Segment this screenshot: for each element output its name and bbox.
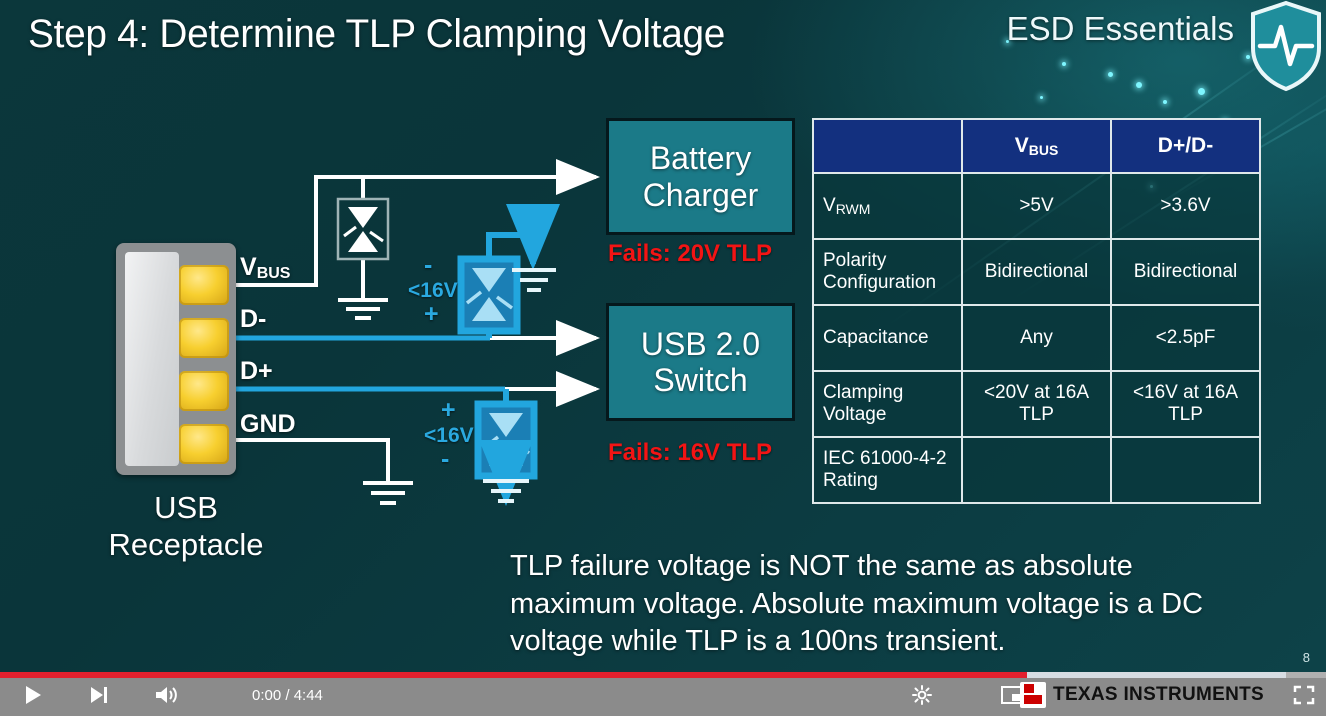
time-display: 0:00 / 4:44 xyxy=(252,687,323,704)
video-player-controls: 0:00 / 4:44 TEXAS INSTRUMENTS xyxy=(0,672,1326,716)
play-button[interactable] xyxy=(22,684,44,706)
table-cell-iec-vbus xyxy=(962,437,1111,503)
table-header-row: VBUS D+/D- xyxy=(813,119,1260,173)
usb-caption-line2: Receptacle xyxy=(96,527,276,564)
fullscreen-icon xyxy=(1292,684,1316,706)
tvs-dminus-top-sign: - xyxy=(424,251,432,280)
table-header-data: D+/D- xyxy=(1111,119,1260,173)
tvs-dminus-bottom-sign: + xyxy=(424,300,439,329)
usb-pin-dplus xyxy=(179,371,229,411)
progress-bar-track[interactable] xyxy=(0,672,1326,678)
settings-button[interactable] xyxy=(910,684,934,706)
spec-table: VBUS D+/D- VRWM >5V >3.6V Polarity Confi… xyxy=(812,118,1261,504)
sparkle-icon xyxy=(1108,72,1113,77)
table-rowlabel-iec: IEC 61000-4-2 Rating xyxy=(813,437,962,503)
volume-icon xyxy=(154,684,178,706)
volume-button[interactable] xyxy=(154,684,178,706)
sparkle-icon xyxy=(1136,82,1142,88)
table-row: Polarity Configuration Bidirectional Bid… xyxy=(813,239,1260,305)
table-row: Capacitance Any <2.5pF xyxy=(813,305,1260,371)
table-row: VRWM >5V >3.6V xyxy=(813,173,1260,239)
table-rowlabel-capacitance: Capacitance xyxy=(813,305,962,371)
pin-label-dminus: D- xyxy=(240,305,266,334)
table-cell-polarity-data: Bidirectional xyxy=(1111,239,1260,305)
play-icon xyxy=(22,684,44,706)
pin-label-dplus: D+ xyxy=(240,357,273,386)
slide-canvas: Step 4: Determine TLP Clamping Voltage E… xyxy=(0,0,1326,672)
sparkle-icon xyxy=(1198,88,1205,95)
block-usb-switch: USB 2.0 Switch xyxy=(606,303,795,421)
tvs-dplus-bottom-sign: - xyxy=(441,445,449,474)
block-switch-line1: USB 2.0 xyxy=(641,326,760,362)
settings-icon xyxy=(910,684,934,706)
ti-brand-label: TEXAS INSTRUMENTS xyxy=(1053,684,1264,706)
usb-caption-line1: USB xyxy=(96,490,276,527)
ti-mark-icon xyxy=(1020,682,1046,708)
table-cell-iec-data xyxy=(1111,437,1260,503)
pin-label-vbus: VBUS xyxy=(240,253,290,282)
table-corner-cell xyxy=(813,119,962,173)
table-row: IEC 61000-4-2 Rating xyxy=(813,437,1260,503)
block-charger-line2: Charger xyxy=(643,177,759,213)
sparkle-icon xyxy=(1062,62,1066,66)
table-cell-clamping-data: <16V at 16A TLP xyxy=(1111,371,1260,437)
pin-label-gnd: GND xyxy=(240,410,296,439)
brand-label: ESD Essentials xyxy=(1007,10,1234,48)
usb-pin-dminus xyxy=(179,318,229,358)
table-row: Clamping Voltage <20V at 16A TLP <16V at… xyxy=(813,371,1260,437)
table-rowlabel-polarity: Polarity Configuration xyxy=(813,239,962,305)
page-number: 8 xyxy=(1303,650,1310,665)
usb-receptacle xyxy=(116,243,236,475)
shield-pulse-icon xyxy=(1248,0,1324,92)
usb-receptacle-body xyxy=(125,252,179,466)
usb-pin-vbus xyxy=(179,265,229,305)
fullscreen-button[interactable] xyxy=(1292,684,1316,706)
tvs-dplus-top-sign: + xyxy=(441,396,456,425)
table-rowlabel-clamping: Clamping Voltage xyxy=(813,371,962,437)
table-cell-vrwm-data: >3.6V xyxy=(1111,173,1260,239)
table-cell-capacitance-vbus: Any xyxy=(962,305,1111,371)
table-cell-clamping-vbus: <20V at 16A TLP xyxy=(962,371,1111,437)
video-player-stage: Step 4: Determine TLP Clamping Voltage E… xyxy=(0,0,1326,716)
block-switch-line2: Switch xyxy=(653,362,747,398)
progress-bar-fill xyxy=(0,672,1027,678)
sparkle-icon xyxy=(1163,100,1167,104)
usb-receptacle-caption: USB Receptacle xyxy=(96,490,276,563)
sparkle-icon xyxy=(1040,96,1043,99)
texas-instruments-logo: TEXAS INSTRUMENTS xyxy=(1020,682,1264,708)
table-cell-polarity-vbus: Bidirectional xyxy=(962,239,1111,305)
fail-note-switch: Fails: 16V TLP xyxy=(608,439,772,467)
table-cell-capacitance-data: <2.5pF xyxy=(1111,305,1260,371)
table-rowlabel-vrwm: VRWM xyxy=(813,173,962,239)
table-header-vbus: VBUS xyxy=(962,119,1111,173)
table-cell-vrwm-vbus: >5V xyxy=(962,173,1111,239)
fail-note-charger: Fails: 20V TLP xyxy=(608,240,772,268)
slide-caption: TLP failure voltage is NOT the same as a… xyxy=(510,548,1210,661)
next-button[interactable] xyxy=(88,684,110,706)
next-icon xyxy=(88,684,110,706)
block-charger-line1: Battery xyxy=(650,140,751,176)
block-battery-charger: Battery Charger xyxy=(606,118,795,235)
usb-pin-gnd xyxy=(179,424,229,464)
page-title: Step 4: Determine TLP Clamping Voltage xyxy=(28,12,725,57)
